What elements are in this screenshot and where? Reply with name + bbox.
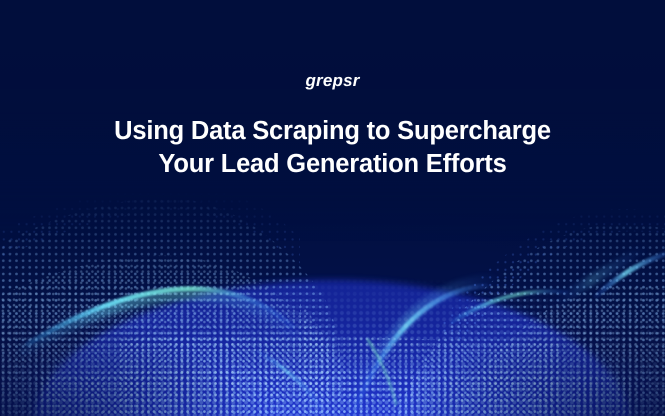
blog-hero-banner: grepsr Using Data Scraping to Supercharg… [0,0,665,416]
banner-content: grepsr Using Data Scraping to Supercharg… [0,0,665,416]
grepsr-logo: grepsr [305,72,359,89]
page-title: Using Data Scraping to Supercharge Your … [98,115,568,180]
headline-line-2: Lead Generation Efforts [221,150,507,178]
